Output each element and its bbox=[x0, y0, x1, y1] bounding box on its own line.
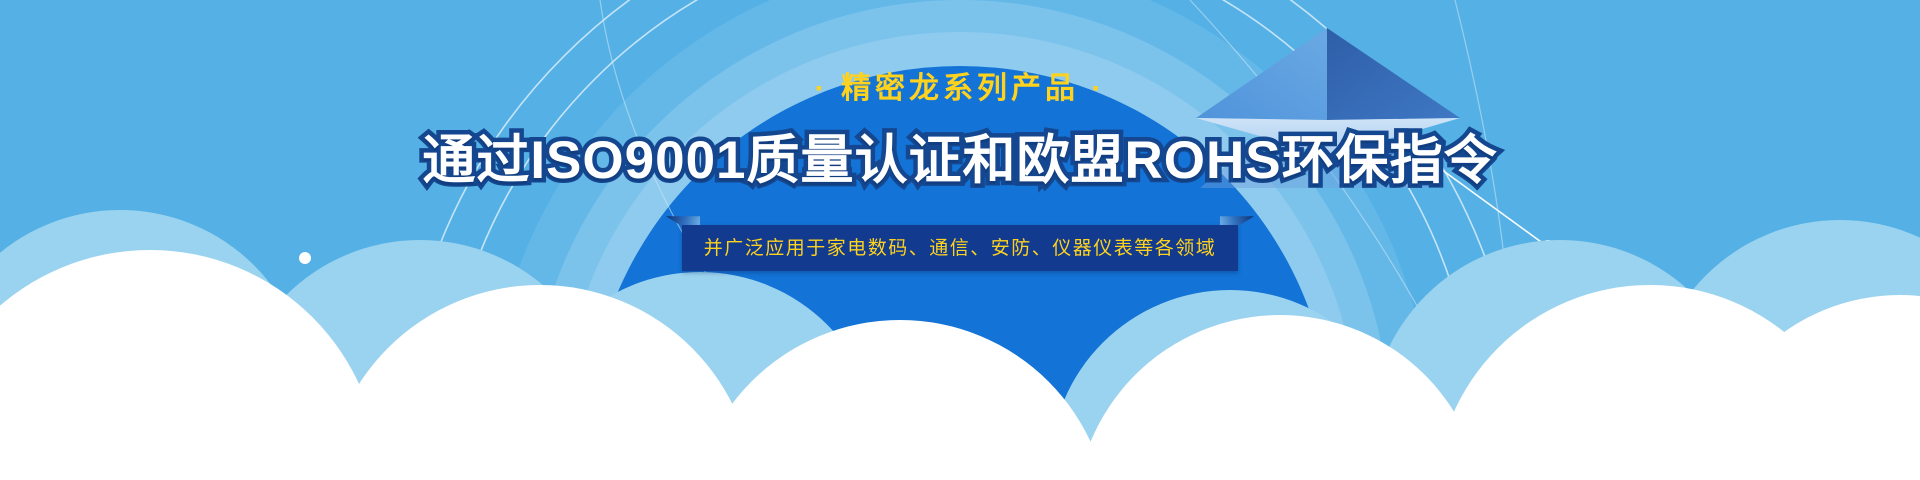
ribbon-body: 并广泛应用于家电数码、通信、安防、仪器仪表等各领域 bbox=[682, 225, 1238, 271]
promo-banner: · 精密龙系列产品 · 通过ISO9001质量认证和欧盟ROHS环保指令 并广泛… bbox=[0, 0, 1920, 480]
banner-headline: 通过ISO9001质量认证和欧盟ROHS环保指令 bbox=[422, 132, 1497, 189]
banner-tagline: 并广泛应用于家电数码、通信、安防、仪器仪表等各领域 bbox=[704, 239, 1217, 258]
banner-eyebrow: · 精密龙系列产品 · bbox=[815, 74, 1106, 104]
tagline-ribbon: 并广泛应用于家电数码、通信、安防、仪器仪表等各领域 bbox=[682, 225, 1238, 271]
